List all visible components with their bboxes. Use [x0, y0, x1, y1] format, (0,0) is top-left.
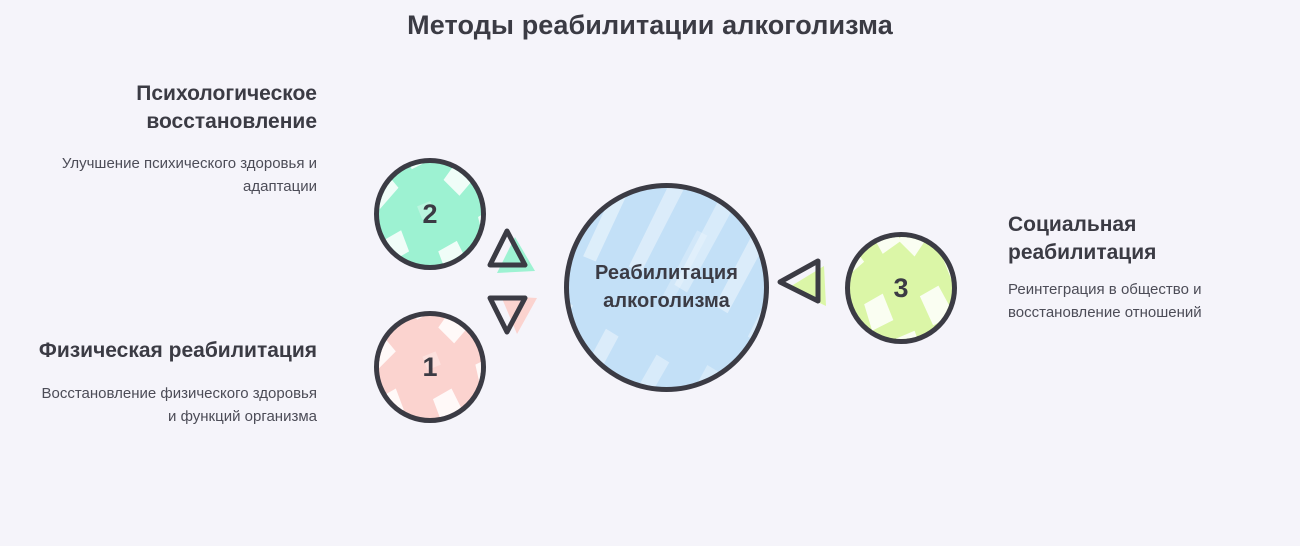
- body-social: Реинтеграция в общество и восстановление…: [1008, 279, 1258, 325]
- node-center-label: Реабилитация алкоголизма: [569, 260, 764, 315]
- node-number-1: 1: [422, 352, 437, 383]
- text-block-physical: Физическая реабилитация Восстановление ф…: [37, 337, 317, 428]
- page-title: Методы реабилитации алкоголизма: [0, 10, 1300, 41]
- node-circle-center[interactable]: Реабилитация алкоголизма: [564, 183, 769, 392]
- node-circle-2[interactable]: 2: [374, 158, 486, 270]
- node-number-2: 2: [422, 199, 437, 230]
- body-physical: Восстановление физического здоровья и фу…: [37, 383, 317, 429]
- heading-psychological: Психологическое восстановление: [37, 80, 317, 135]
- arrow-left-triangle: [778, 256, 840, 314]
- infographic-canvas: Методы реабилитации алкоголизма Психолог…: [0, 0, 1300, 546]
- heading-physical: Физическая реабилитация: [37, 337, 317, 365]
- node-circle-3[interactable]: 3: [845, 232, 957, 344]
- arrow-down-triangle: [489, 292, 551, 350]
- text-block-social: Социальная реабилитация Реинтеграция в о…: [1008, 211, 1258, 325]
- node-number-3: 3: [893, 273, 908, 304]
- body-psychological: Улучшение психического здоровья и адапта…: [37, 153, 317, 199]
- heading-social: Социальная реабилитация: [1008, 211, 1258, 266]
- text-block-psychological: Психологическое восстановление Улучшение…: [37, 80, 317, 199]
- arrow-up-triangle: [489, 225, 551, 283]
- node-circle-1[interactable]: 1: [374, 311, 486, 423]
